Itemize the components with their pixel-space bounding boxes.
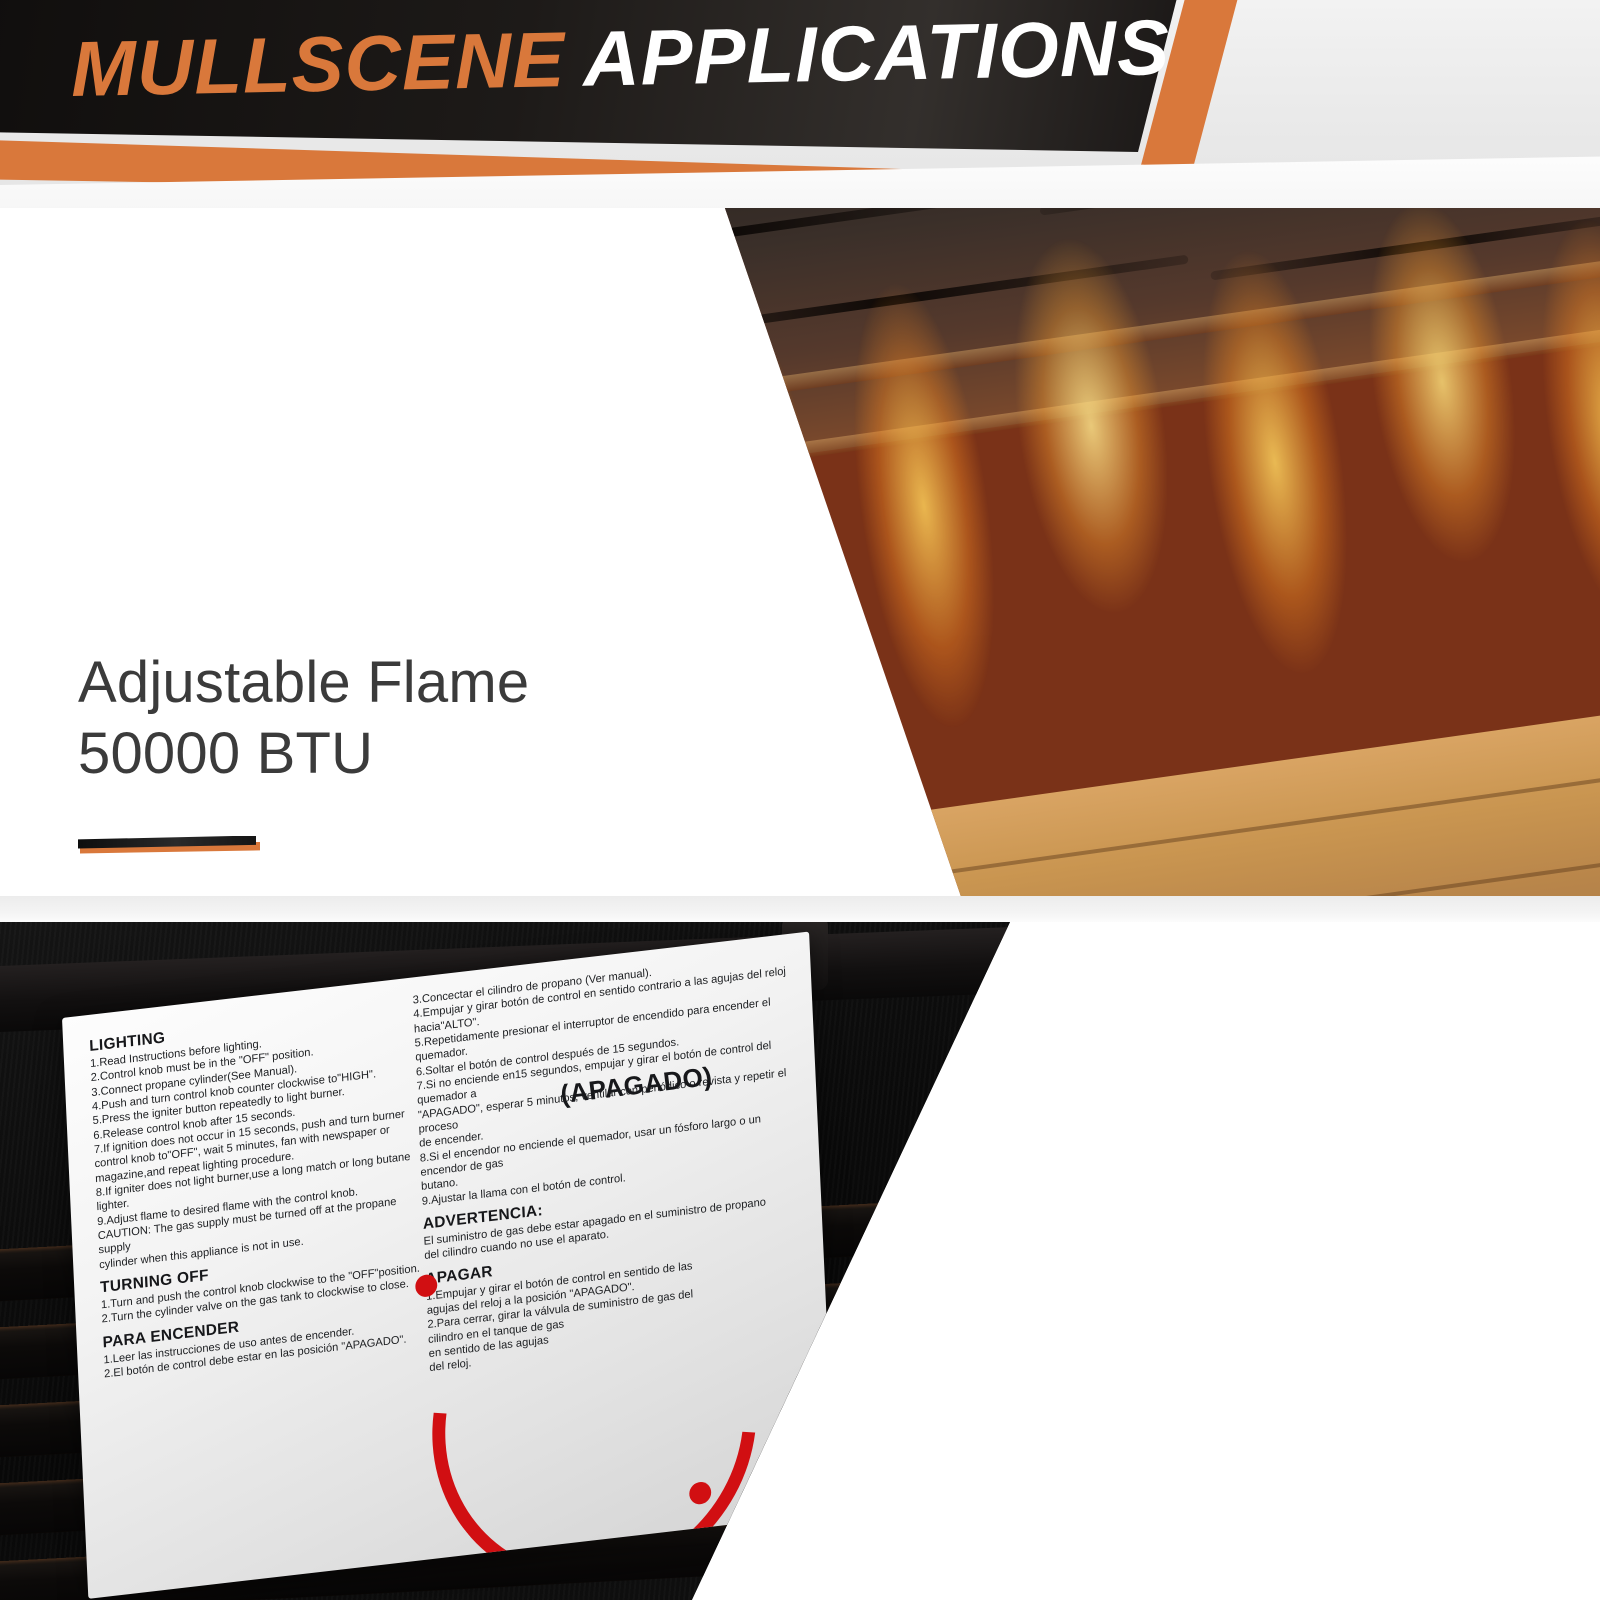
feature-panel-top: Adjustable Flame 50000 BTU <box>0 208 1600 898</box>
top-feature-text: Adjustable Flame 50000 BTU <box>78 648 638 858</box>
instructions-english: LIGHTING 1.Read Instructions before ligh… <box>89 993 433 1382</box>
control-panel-photo: LIGHTING 1.Read Instructions before ligh… <box>0 922 1010 1600</box>
feature-panel-bottom: LIGHTING 1.Read Instructions before ligh… <box>0 922 1600 1600</box>
title-rest: APPLICATIONS <box>582 3 1171 103</box>
top-divider <box>78 832 260 858</box>
top-heading-line2: 50000 BTU <box>78 719 638 790</box>
instruction-label-plate: LIGHTING 1.Read Instructions before ligh… <box>62 932 835 1599</box>
top-heading-line1: Adjustable Flame <box>78 648 638 719</box>
marketing-image-root: MULLSCENEAPPLICATIONS <box>0 0 1600 1600</box>
title-brand: MULLSCENE <box>70 15 566 113</box>
header-banner: MULLSCENEAPPLICATIONS <box>0 0 1600 215</box>
